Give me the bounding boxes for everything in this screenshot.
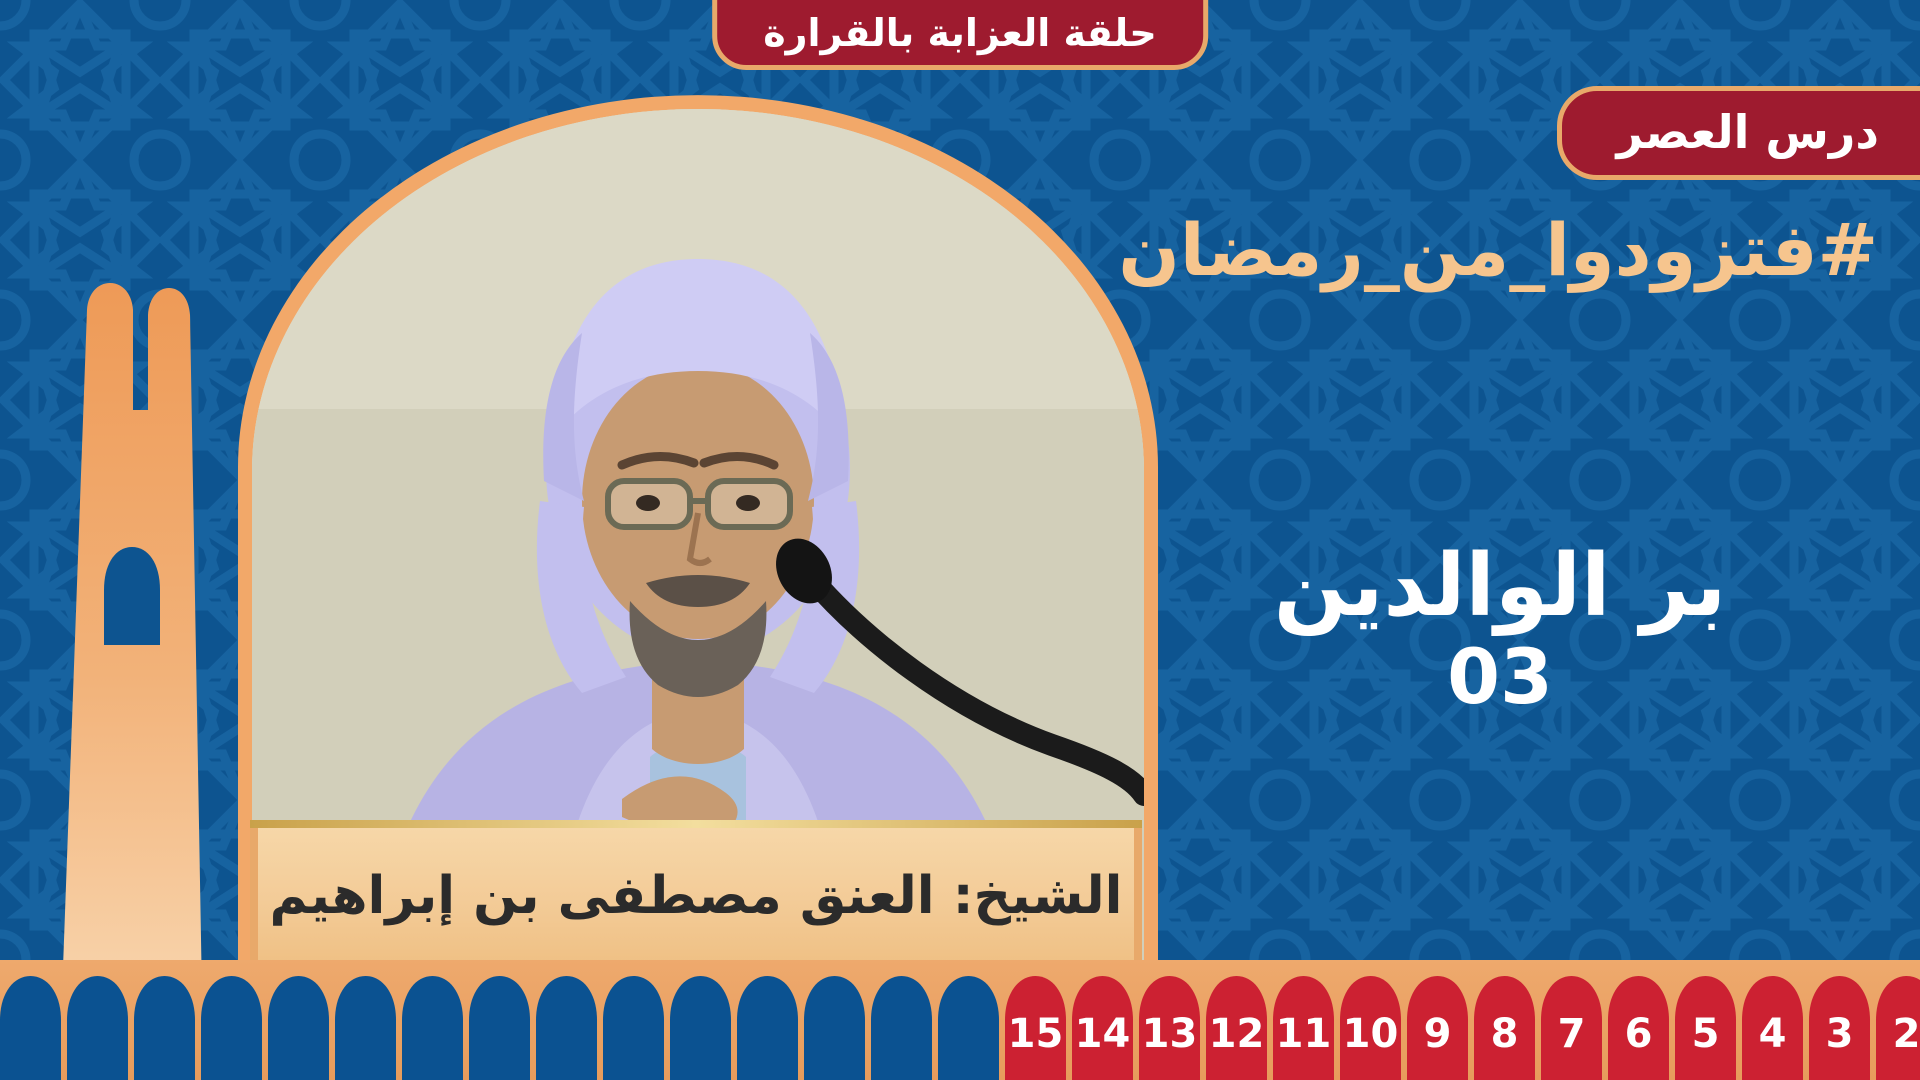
lesson-time-badge: درس العصر xyxy=(1557,86,1920,180)
episode-arch-5[interactable]: 5 xyxy=(1675,976,1736,1080)
episode-arch-2[interactable]: 2 xyxy=(1876,976,1920,1080)
arch-shape-icon xyxy=(335,976,396,1080)
poster-canvas: الشيخ: العنق مصطفى بن إبراهيم حلقة العزا… xyxy=(0,0,1920,1080)
arch-cell-blank xyxy=(804,976,865,1080)
episode-number-label: 11 xyxy=(1276,1014,1332,1080)
episode-arch-15[interactable]: 15 xyxy=(1005,976,1066,1080)
episode-arch-3[interactable]: 3 xyxy=(1809,976,1870,1080)
arch-cell-blank xyxy=(134,976,195,1080)
episode-number-label: 3 xyxy=(1826,1014,1854,1080)
episode-number-label: 8 xyxy=(1491,1014,1519,1080)
arch-cell-blank xyxy=(335,976,396,1080)
speaker-name-label: الشيخ: العنق مصطفى بن إبراهيم xyxy=(270,866,1123,926)
arch-shape-icon xyxy=(469,976,530,1080)
episode-number-label: 2 xyxy=(1893,1014,1920,1080)
arch-cell-blank xyxy=(871,976,932,1080)
arch-cell-blank xyxy=(670,976,731,1080)
lesson-time-label: درس العصر xyxy=(1616,105,1879,159)
arch-shape-icon xyxy=(670,976,731,1080)
lesson-title-block: بر الوالدين 03 xyxy=(1140,540,1860,720)
arch-cell-blank xyxy=(603,976,664,1080)
campaign-hashtag: #فتزودوا_من_رمضان xyxy=(1118,208,1878,292)
episode-arch-12[interactable]: 12 xyxy=(1206,976,1267,1080)
episode-number-label: 5 xyxy=(1692,1014,1720,1080)
arch-row: 151413121110987654321 xyxy=(0,976,1920,1080)
arch-shape-icon xyxy=(0,976,61,1080)
program-ribbon: حلقة العزابة بالقرارة xyxy=(712,0,1208,70)
program-ribbon-label: حلقة العزابة بالقرارة xyxy=(763,11,1157,55)
arch-shape-icon xyxy=(67,976,128,1080)
lesson-episode-number: 03 xyxy=(1140,633,1860,720)
speaker-nameplate: الشيخ: العنق مصطفى بن إبراهيم xyxy=(250,828,1142,964)
episode-number-label: 15 xyxy=(1008,1014,1064,1080)
arch-cell-blank xyxy=(0,976,61,1080)
episode-arch-11[interactable]: 11 xyxy=(1273,976,1334,1080)
episode-arch-6[interactable]: 6 xyxy=(1608,976,1669,1080)
episode-number-label: 14 xyxy=(1075,1014,1131,1080)
arch-cell-blank xyxy=(737,976,798,1080)
episode-number-label: 10 xyxy=(1343,1014,1399,1080)
episode-number-label: 7 xyxy=(1558,1014,1586,1080)
episode-number-label: 4 xyxy=(1759,1014,1787,1080)
episode-arch-9[interactable]: 9 xyxy=(1407,976,1468,1080)
arch-shape-icon xyxy=(536,976,597,1080)
episode-number-strip: 151413121110987654321 xyxy=(0,960,1920,1080)
episode-arch-7[interactable]: 7 xyxy=(1541,976,1602,1080)
arch-shape-icon xyxy=(804,976,865,1080)
arch-shape-icon xyxy=(938,976,999,1080)
episode-arch-10[interactable]: 10 xyxy=(1340,976,1401,1080)
arch-shape-icon xyxy=(737,976,798,1080)
episode-arch-14[interactable]: 14 xyxy=(1072,976,1133,1080)
episode-number-label: 6 xyxy=(1625,1014,1653,1080)
arch-cell-blank xyxy=(938,976,999,1080)
arch-shape-icon xyxy=(268,976,329,1080)
arch-shape-icon xyxy=(871,976,932,1080)
minaret-icon xyxy=(40,205,205,995)
arch-cell-blank xyxy=(402,976,463,1080)
episode-arch-8[interactable]: 8 xyxy=(1474,976,1535,1080)
arch-cell-blank xyxy=(268,976,329,1080)
episode-number-label: 12 xyxy=(1209,1014,1265,1080)
arch-cell-blank xyxy=(469,976,530,1080)
arch-shape-icon xyxy=(603,976,664,1080)
episode-number-label: 9 xyxy=(1424,1014,1452,1080)
episode-arch-13[interactable]: 13 xyxy=(1139,976,1200,1080)
arch-shape-icon xyxy=(201,976,262,1080)
arch-shape-icon xyxy=(134,976,195,1080)
episode-number-label: 13 xyxy=(1142,1014,1198,1080)
arch-cell-blank xyxy=(67,976,128,1080)
episode-arch-4[interactable]: 4 xyxy=(1742,976,1803,1080)
lesson-title: بر الوالدين xyxy=(1140,540,1860,633)
arch-cell-blank xyxy=(536,976,597,1080)
arch-shape-icon xyxy=(402,976,463,1080)
arch-cell-blank xyxy=(201,976,262,1080)
